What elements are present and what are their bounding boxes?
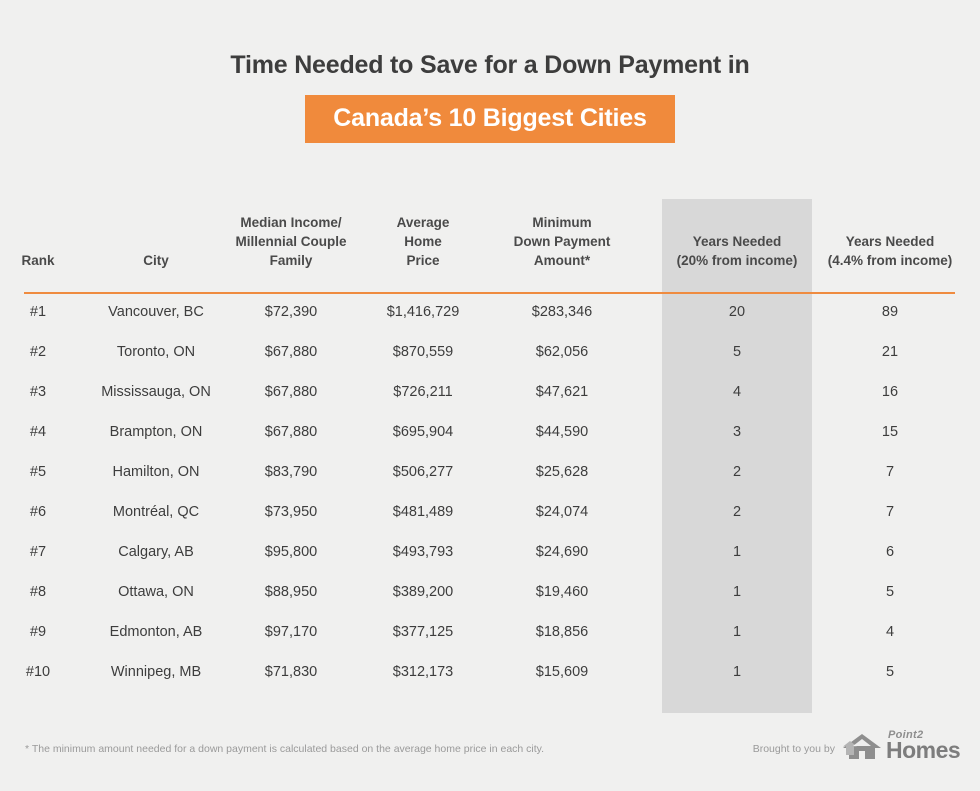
title-badge: Canada’s 10 Biggest Cities <box>305 95 674 143</box>
cell-years-20: 5 <box>733 332 741 372</box>
cell-income: $95,800 <box>265 532 317 572</box>
cell-years-20: 2 <box>733 452 741 492</box>
cell-years-44: 5 <box>886 652 894 692</box>
table-header-row: Rank City Median Income/ Millennial Coup… <box>0 199 980 292</box>
cell-down-payment: $47,621 <box>536 372 588 412</box>
cell-home-price: $312,173 <box>393 652 453 692</box>
point2homes-logo: Point2 Homes <box>840 729 958 765</box>
cell-rank: #5 <box>30 452 46 492</box>
cell-home-price: $870,559 <box>393 332 453 372</box>
cell-down-payment: $25,628 <box>536 452 588 492</box>
cell-city: Hamilton, ON <box>112 452 199 492</box>
cell-city: Brampton, ON <box>110 412 203 452</box>
table-row: #8Ottawa, ON$88,950$389,200$19,46015 <box>0 572 980 612</box>
cell-years-20: 20 <box>729 292 745 332</box>
cell-city: Winnipeg, MB <box>111 652 201 692</box>
table-row: #10Winnipeg, MB$71,830$312,173$15,60915 <box>0 652 980 692</box>
column-header-home-price: Average Home Price <box>358 213 488 270</box>
cell-down-payment: $24,690 <box>536 532 588 572</box>
cell-income: $72,390 <box>265 292 317 332</box>
cell-years-44: 7 <box>886 492 894 532</box>
cell-years-44: 5 <box>886 572 894 612</box>
column-header-down-payment: Minimum Down Payment Amount* <box>477 213 647 270</box>
table-row: #1Vancouver, BC$72,390$1,416,729$283,346… <box>0 292 980 332</box>
cell-down-payment: $15,609 <box>536 652 588 692</box>
footnote: * The minimum amount needed for a down p… <box>25 742 544 756</box>
cell-rank: #1 <box>30 292 46 332</box>
cell-city: Toronto, ON <box>117 332 195 372</box>
cell-down-payment: $62,056 <box>536 332 588 372</box>
cell-down-payment: $19,460 <box>536 572 588 612</box>
column-header-years-20: Years Needed (20% from income) <box>662 232 812 270</box>
cell-income: $67,880 <box>265 332 317 372</box>
cell-rank: #2 <box>30 332 46 372</box>
cell-years-44: 89 <box>882 292 898 332</box>
table-row: #3Mississauga, ON$67,880$726,211$47,6214… <box>0 372 980 412</box>
table-row: #9Edmonton, AB$97,170$377,125$18,85614 <box>0 612 980 652</box>
cell-home-price: $726,211 <box>393 372 452 412</box>
cell-income: $73,950 <box>265 492 317 532</box>
cell-years-20: 2 <box>733 492 741 532</box>
table-row: #7Calgary, AB$95,800$493,793$24,69016 <box>0 532 980 572</box>
cell-city: Vancouver, BC <box>108 292 204 332</box>
cell-rank: #4 <box>30 412 46 452</box>
cell-income: $67,880 <box>265 372 317 412</box>
column-header-city: City <box>101 251 211 270</box>
cell-rank: #7 <box>30 532 46 572</box>
cell-rank: #9 <box>30 612 46 652</box>
cell-years-20: 1 <box>733 532 741 572</box>
cell-down-payment: $44,590 <box>536 412 588 452</box>
cell-down-payment: $18,856 <box>536 612 588 652</box>
cell-years-20: 1 <box>733 612 741 652</box>
house-icon <box>840 733 884 765</box>
cell-home-price: $695,904 <box>393 412 453 452</box>
data-table: Rank City Median Income/ Millennial Coup… <box>0 199 980 292</box>
cell-home-price: $506,277 <box>393 452 453 492</box>
cell-years-44: 16 <box>882 372 898 412</box>
cell-city: Ottawa, ON <box>118 572 194 612</box>
cell-rank: #3 <box>30 372 46 412</box>
cell-down-payment: $24,074 <box>536 492 588 532</box>
cell-years-20: 4 <box>733 372 741 412</box>
cell-years-44: 6 <box>886 532 894 572</box>
cell-income: $71,830 <box>265 652 317 692</box>
cell-years-20: 3 <box>733 412 741 452</box>
table-row: #4Brampton, ON$67,880$695,904$44,590315 <box>0 412 980 452</box>
cell-down-payment: $283,346 <box>532 292 592 332</box>
cell-years-44: 4 <box>886 612 894 652</box>
table-row: #6Montréal, QC$73,950$481,489$24,07427 <box>0 492 980 532</box>
column-header-income: Median Income/ Millennial Couple Family <box>201 213 381 270</box>
logo-homes-wordmark: Homes <box>886 738 960 763</box>
cell-home-price: $377,125 <box>393 612 453 652</box>
cell-rank: #10 <box>26 652 50 692</box>
cell-home-price: $481,489 <box>393 492 453 532</box>
cell-home-price: $389,200 <box>393 572 453 612</box>
brought-to-you-by-label: Brought to you by <box>753 742 835 756</box>
cell-income: $97,170 <box>265 612 317 652</box>
column-header-rank: Rank <box>0 251 83 270</box>
cell-years-44: 7 <box>886 452 894 492</box>
cell-city: Edmonton, AB <box>110 612 203 652</box>
cell-income: $83,790 <box>265 452 317 492</box>
cell-city: Calgary, AB <box>118 532 194 572</box>
cell-years-20: 1 <box>733 572 741 612</box>
page-title: Time Needed to Save for a Down Payment i… <box>0 48 980 82</box>
cell-rank: #8 <box>30 572 46 612</box>
table-row: #2Toronto, ON$67,880$870,559$62,056521 <box>0 332 980 372</box>
cell-rank: #6 <box>30 492 46 532</box>
table-body: #1Vancouver, BC$72,390$1,416,729$283,346… <box>0 292 980 692</box>
cell-income: $88,950 <box>265 572 317 612</box>
cell-years-44: 21 <box>882 332 898 372</box>
cell-home-price: $1,416,729 <box>387 292 460 332</box>
cell-years-20: 1 <box>733 652 741 692</box>
cell-home-price: $493,793 <box>393 532 453 572</box>
title-block: Time Needed to Save for a Down Payment i… <box>0 48 980 143</box>
table-row: #5Hamilton, ON$83,790$506,277$25,62827 <box>0 452 980 492</box>
column-header-years-44: Years Needed (4.4% from income) <box>805 232 975 270</box>
cell-city: Mississauga, ON <box>101 372 211 412</box>
infographic-canvas: Time Needed to Save for a Down Payment i… <box>0 0 980 791</box>
cell-income: $67,880 <box>265 412 317 452</box>
cell-city: Montréal, QC <box>113 492 199 532</box>
cell-years-44: 15 <box>882 412 898 452</box>
